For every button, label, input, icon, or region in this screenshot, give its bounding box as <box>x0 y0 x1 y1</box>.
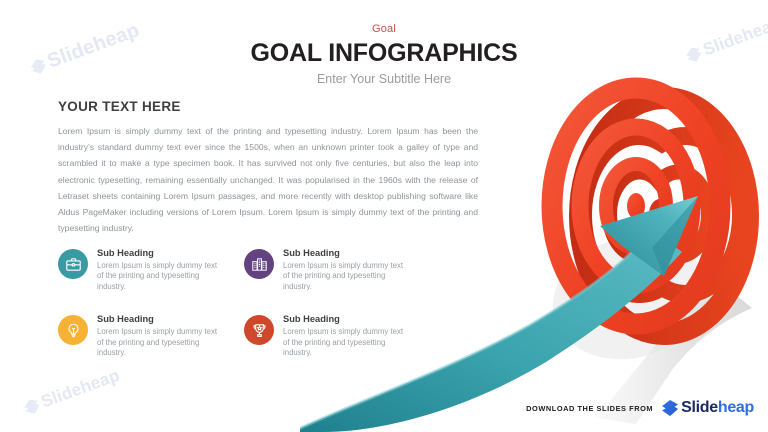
text-block-heading: YOUR TEXT HERE <box>58 99 478 114</box>
feature-text: Lorem Ipsum is simply dummy text of the … <box>97 261 222 292</box>
feature-heading: Sub Heading <box>97 248 222 259</box>
lightbulb-icon <box>58 315 88 345</box>
feature-text: Lorem Ipsum is simply dummy text of the … <box>283 327 408 358</box>
brand-name-part1: Slide <box>681 399 718 416</box>
feature-item-1[interactable]: Sub Heading Lorem Ipsum is simply dummy … <box>58 248 222 292</box>
text-block-paragraph: Lorem Ipsum is simply dummy text of the … <box>58 123 478 236</box>
slide-canvas: Slideheap Slideheap Slideheap <box>0 0 768 432</box>
target-board <box>552 88 748 334</box>
download-label: DOWNLOAD THE SLIDES FROM <box>526 404 653 413</box>
trophy-icon <box>244 315 274 345</box>
text-block: YOUR TEXT HERE Lorem Ipsum is simply dum… <box>58 99 478 236</box>
footer: DOWNLOAD THE SLIDES FROM Slideheap <box>526 400 754 416</box>
feature-row: Sub Heading Lorem Ipsum is simply dummy … <box>58 248 408 292</box>
slideheap-mark-icon <box>662 400 678 416</box>
briefcase-icon <box>58 249 88 279</box>
building-icon <box>244 249 274 279</box>
watermark-text: Slideheap <box>39 365 123 412</box>
feature-text: Lorem Ipsum is simply dummy text of the … <box>97 327 222 358</box>
illustration-shadow <box>540 221 752 424</box>
feature-row: Sub Heading Lorem Ipsum is simply dummy … <box>58 314 408 358</box>
feature-heading: Sub Heading <box>283 248 408 259</box>
watermark-bottom-left: Slideheap <box>22 365 123 418</box>
page-title: GOAL INFOGRAPHICS <box>0 38 768 68</box>
eyebrow-label: Goal <box>0 22 768 36</box>
feature-heading: Sub Heading <box>283 314 408 325</box>
target-rings <box>552 88 720 324</box>
slideheap-logo[interactable]: Slideheap <box>662 400 754 416</box>
page-subtitle: Enter Your Subtitle Here <box>0 71 768 87</box>
feature-text: Lorem Ipsum is simply dummy text of the … <box>283 261 408 292</box>
feature-item-4[interactable]: Sub Heading Lorem Ipsum is simply dummy … <box>244 314 408 358</box>
feature-heading: Sub Heading <box>97 314 222 325</box>
feature-item-3[interactable]: Sub Heading Lorem Ipsum is simply dummy … <box>58 314 222 358</box>
brand-name-part2: heap <box>718 399 754 416</box>
feature-item-2[interactable]: Sub Heading Lorem Ipsum is simply dummy … <box>244 248 408 292</box>
watermark-logo-icon <box>22 397 41 416</box>
feature-grid: Sub Heading Lorem Ipsum is simply dummy … <box>58 248 408 358</box>
header: Goal GOAL INFOGRAPHICS Enter Your Subtit… <box>0 22 768 87</box>
